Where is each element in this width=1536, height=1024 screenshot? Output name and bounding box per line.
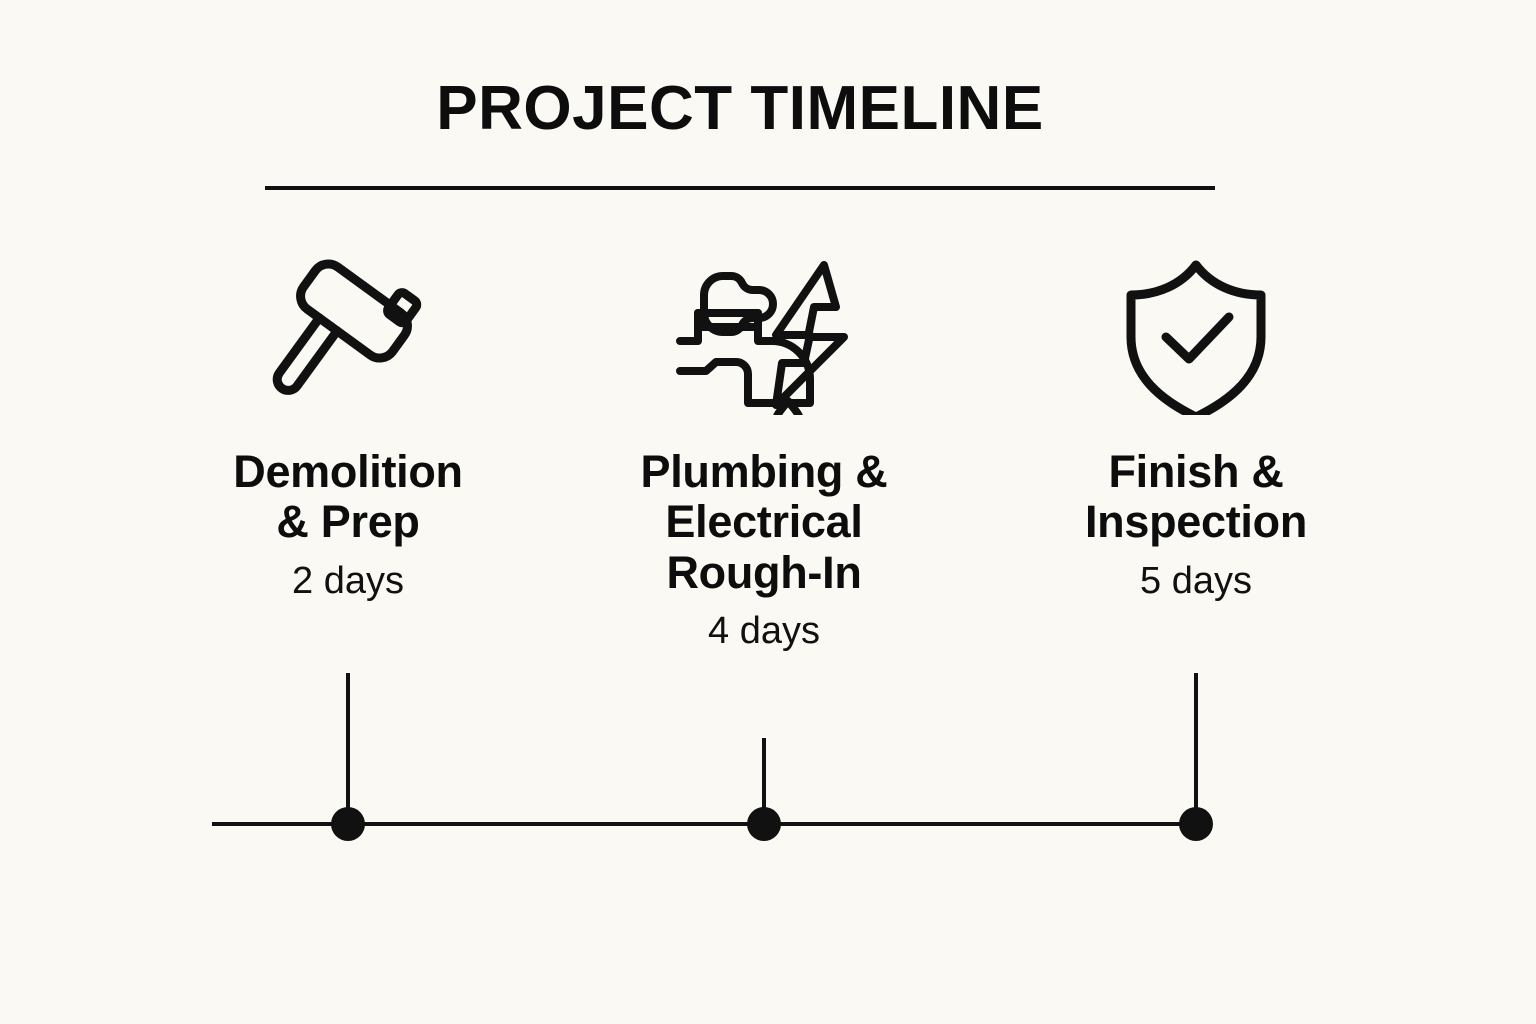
timeline-node-dot[interactable]: [331, 807, 365, 841]
timeline-node-dot[interactable]: [747, 807, 781, 841]
phase-duration: 2 days: [183, 560, 513, 604]
timeline-stem: [762, 738, 766, 824]
timeline-node-dot[interactable]: [1179, 807, 1213, 841]
phase-label: Plumbing & Electrical Rough-In: [599, 447, 929, 598]
timeline-stem: [346, 673, 350, 824]
timeline-axis-line: [212, 822, 1196, 826]
page-title: PROJECT TIMELINE: [0, 78, 1480, 140]
phase-duration: 4 days: [599, 610, 929, 654]
phase-list: Demolition & Prep 2 days: [0, 255, 1536, 685]
faucet-lightning-icon: [599, 255, 929, 415]
title-divider: [265, 186, 1215, 190]
phase-duration: 5 days: [1031, 560, 1361, 604]
sledgehammer-icon: [183, 255, 513, 415]
phase-item-plumbing-electrical[interactable]: Plumbing & Electrical Rough-In 4 days: [599, 255, 929, 654]
timeline-infographic: PROJECT TIMELINE Demolition & Prep: [0, 0, 1536, 1024]
phase-item-finish-inspection[interactable]: Finish & Inspection 5 days: [1031, 255, 1361, 603]
phase-item-demolition[interactable]: Demolition & Prep 2 days: [183, 255, 513, 603]
shield-check-icon: [1031, 255, 1361, 415]
phase-label: Finish & Inspection: [1031, 447, 1361, 548]
timeline-stem: [1194, 673, 1198, 824]
phase-label: Demolition & Prep: [183, 447, 513, 548]
